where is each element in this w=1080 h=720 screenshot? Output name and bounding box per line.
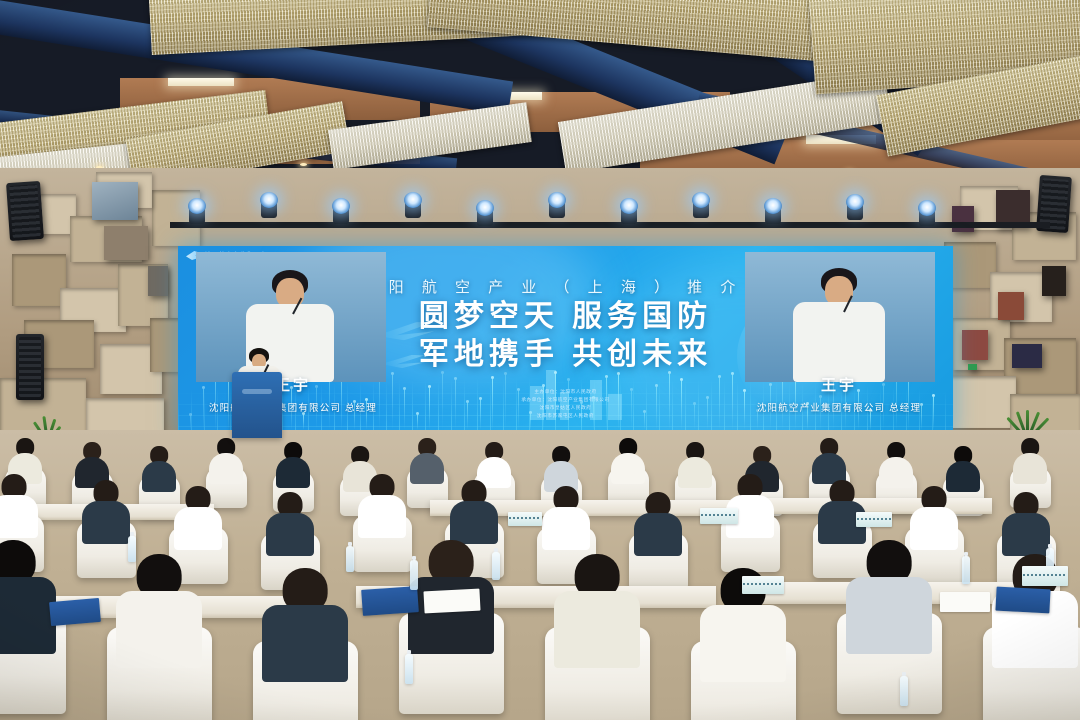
wall-art-panel: [1042, 266, 1066, 296]
attendee: [1002, 492, 1050, 554]
attendee: [846, 540, 932, 650]
water-bottle: [128, 536, 136, 562]
attendee: [82, 480, 130, 542]
moving-head-light: [690, 192, 712, 218]
attendee-body: [846, 577, 932, 654]
attendee: [209, 438, 243, 482]
attendee-body: [678, 457, 712, 488]
table-name-card: [508, 512, 542, 526]
moving-head-light: [258, 192, 280, 218]
conference-hall-photo: 沈阳航空产业集团有限公司 沈 阳 航 空 产 业 （ 上 海 ） 推 介 会 圆…: [0, 0, 1080, 720]
attendee: [554, 554, 640, 664]
attendee: [678, 442, 712, 486]
caption-left-title: 沈阳航空 产业集团有限公司 总经理: [186, 400, 400, 414]
attendee-body: [358, 495, 406, 538]
attendee: [262, 568, 348, 678]
moving-head-light: [916, 200, 938, 226]
attendee-body: [542, 507, 590, 550]
notepad: [940, 592, 990, 612]
wall-art-panel: [998, 292, 1024, 320]
notepad: [423, 589, 480, 614]
attendee-body: [408, 577, 494, 654]
led-stage-screen: 沈阳航空产业集团有限公司 沈 阳 航 空 产 业 （ 上 海 ） 推 介 会 圆…: [178, 246, 953, 438]
attendee: [634, 492, 682, 554]
attendee-body: [266, 513, 314, 556]
attendee: [0, 474, 38, 536]
moving-head-light: [474, 200, 496, 226]
line-array-speaker: [16, 334, 44, 400]
attendee: [611, 438, 645, 482]
caption-right: 王宇 沈阳航空产业集团有限公司 总经理: [725, 374, 953, 414]
moving-head-light: [402, 192, 424, 218]
attendee-body: [262, 605, 348, 682]
attendee-body: [0, 577, 56, 654]
table-name-card: [700, 508, 738, 524]
attendee-body: [0, 495, 38, 538]
water-bottle: [900, 676, 908, 706]
caption-left: 王宇 沈阳航空 产业集团有限公司 总经理: [186, 374, 400, 414]
attendee-body: [276, 457, 310, 488]
moving-head-light: [330, 198, 352, 224]
attendee-body: [209, 453, 243, 484]
attendee: [116, 554, 202, 664]
attendee-body: [1002, 513, 1050, 556]
attendee: [542, 486, 590, 548]
wall-art-panel: [92, 182, 138, 220]
ceiling-light-strip: [168, 78, 234, 86]
wall-art-panel: [1012, 344, 1042, 368]
downlight-icon: [300, 163, 307, 166]
attendee-body: [1013, 453, 1047, 484]
attendee-body: [142, 461, 176, 492]
water-bottle: [410, 560, 418, 590]
caption-left-name: 王宇: [186, 374, 400, 395]
moving-head-light: [618, 198, 640, 224]
attendee: [0, 540, 56, 650]
moving-head-light: [546, 192, 568, 218]
water-bottle: [492, 552, 500, 580]
attendee-body: [611, 453, 645, 484]
live-video-inset-right: [745, 252, 935, 382]
attendee-body: [82, 501, 130, 544]
wall-art-panel: [952, 206, 974, 232]
attendee: [544, 446, 578, 490]
wall-art-panel: [148, 266, 168, 296]
attendee: [818, 480, 866, 542]
attendee: [812, 438, 846, 482]
moving-head-light: [186, 198, 208, 224]
attendee-body: [879, 457, 913, 488]
attendee-body: [450, 501, 498, 544]
moving-head-light: [762, 198, 784, 224]
attendee: [1013, 438, 1047, 482]
moving-head-light: [844, 194, 866, 220]
line-array-speaker: [6, 181, 44, 241]
attendee-body: [700, 605, 786, 682]
caption-right-name: 王宇: [725, 374, 953, 395]
attendee: [142, 446, 176, 490]
attendee-body: [634, 513, 682, 556]
attendee-body: [174, 507, 222, 550]
table-name-card: [856, 512, 892, 527]
water-bottle: [346, 546, 354, 572]
attendee: [174, 486, 222, 548]
attendee: [910, 486, 958, 548]
attendee-body: [554, 591, 640, 668]
attendee: [726, 474, 774, 536]
blue-folder: [995, 587, 1050, 614]
wall-art-panel: [104, 226, 148, 260]
table-name-card: [1022, 566, 1068, 586]
speaker-figure: [789, 268, 889, 382]
blue-folder: [361, 586, 419, 616]
attendee: [266, 492, 314, 554]
caption-right-title: 沈阳航空产业集团有限公司 总经理: [725, 400, 953, 414]
water-bottle: [962, 556, 970, 584]
table-name-card: [742, 576, 784, 594]
podium: [232, 372, 282, 438]
attendee-body: [116, 591, 202, 668]
blue-folder: [49, 598, 101, 626]
exit-sign-icon: [968, 364, 977, 370]
water-bottle: [405, 654, 413, 684]
live-video-inset-left: [196, 252, 386, 382]
wall-art-panel: [962, 330, 988, 360]
attendee: [358, 474, 406, 536]
attendee: [276, 442, 310, 486]
attendee: [410, 438, 444, 482]
attendee: [879, 442, 913, 486]
attendee: [946, 446, 980, 490]
attendee: [450, 480, 498, 542]
attendee-body: [410, 453, 444, 484]
